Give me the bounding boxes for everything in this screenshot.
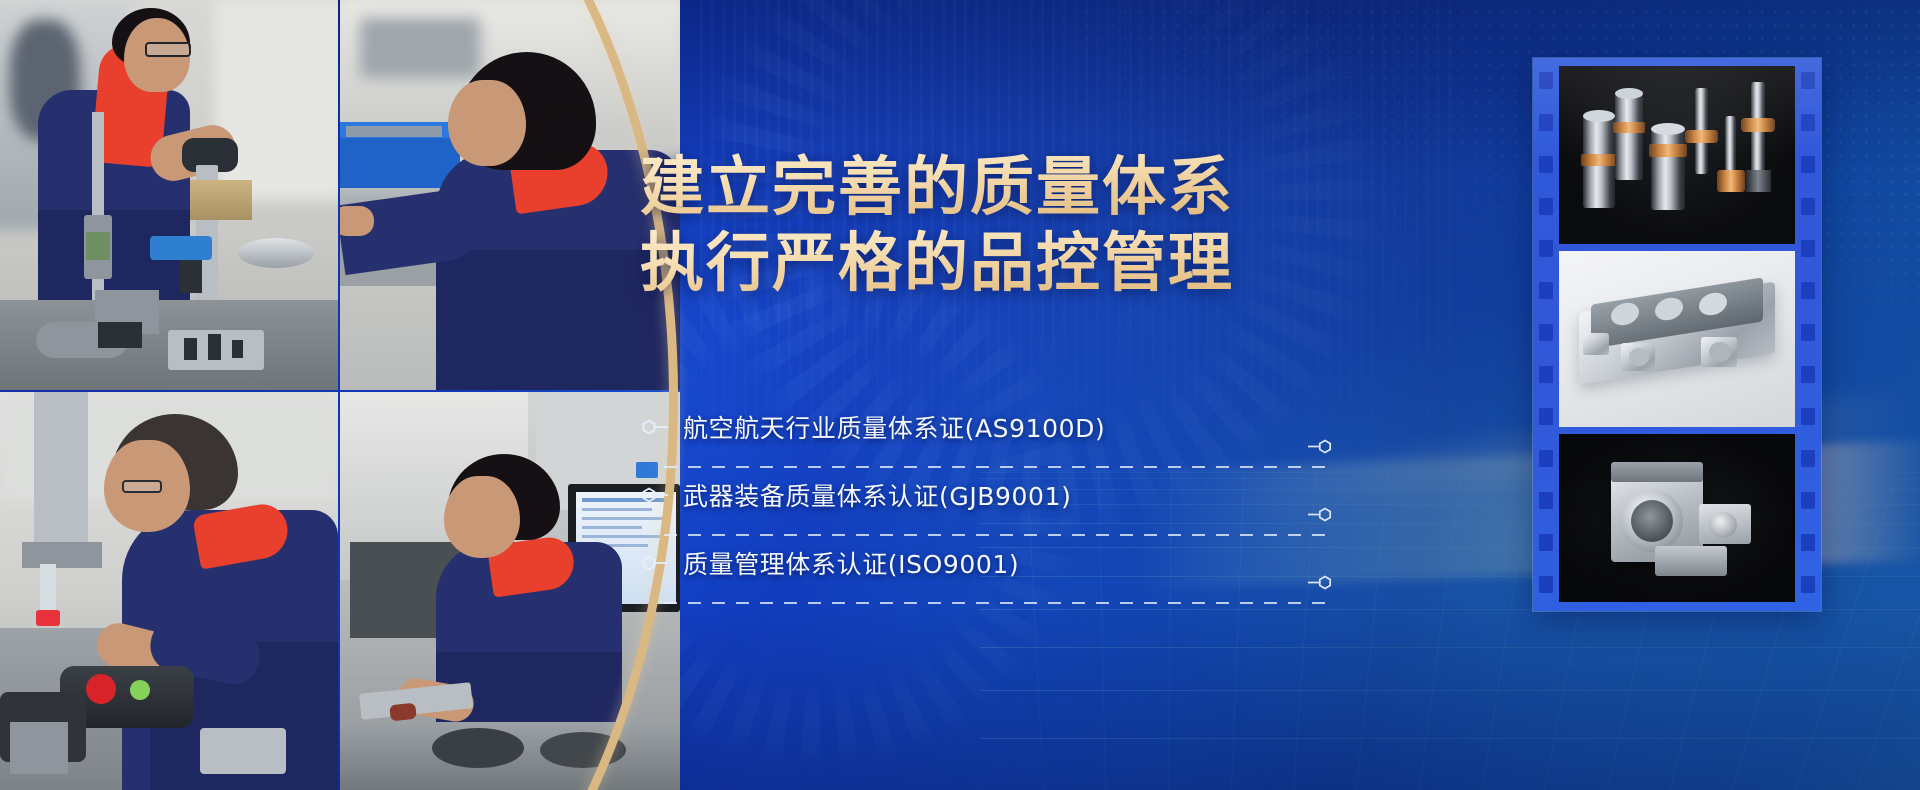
photo-height-gauge-inspection <box>0 0 338 390</box>
certification-item: 质量管理体系认证(ISO9001) <box>642 536 1202 604</box>
headline-line-1: 建立完善的质量体系 <box>640 152 1260 224</box>
filmstrip-perforation <box>1801 282 1815 299</box>
filmstrip-perforation <box>1539 408 1553 425</box>
filmstrip-perforation <box>1801 534 1815 551</box>
certification-label: 质量管理体系认证(ISO9001) <box>683 545 1019 581</box>
filmstrip-perforation <box>1539 156 1553 173</box>
filmstrip-perforation <box>1801 114 1815 131</box>
filmstrip-perforation <box>1539 450 1553 467</box>
photo-collage <box>0 0 680 790</box>
certification-divider <box>664 602 1327 604</box>
gallery-image-machined-housing <box>1559 251 1795 427</box>
quality-system-banner: 建立完善的质量体系 执行严格的品控管理 航空航天行业质量体系证(AS9100D) <box>0 0 1920 790</box>
hexagon-end-icon <box>1308 507 1334 522</box>
hexagon-end-icon <box>1308 439 1334 454</box>
filmstrip-perforation <box>1539 366 1553 383</box>
photo-cmm-measuring <box>0 392 338 790</box>
filmstrip-perforation <box>1801 324 1815 341</box>
filmstrip-perforation <box>1539 114 1553 131</box>
hexagon-end-icon <box>1308 575 1334 590</box>
filmstrip-perforation <box>1539 198 1553 215</box>
filmstrip-perforation <box>1801 156 1815 173</box>
certification-list: 航空航天行业质量体系证(AS9100D) 武器装备质量体系认证(GJB9001) <box>642 400 1202 604</box>
filmstrip-perforation <box>1539 240 1553 257</box>
hexagon-bullet-icon <box>642 419 670 435</box>
filmstrip-perforation <box>1539 534 1553 551</box>
filmstrip-perforation <box>1539 72 1553 89</box>
filmstrip-perforation <box>1539 324 1553 341</box>
filmstrip-perforation <box>1539 282 1553 299</box>
gallery-image-precision-shafts-bushings <box>1559 66 1795 244</box>
filmstrip-perforation <box>1801 72 1815 89</box>
photo-bench-inspection <box>340 0 680 390</box>
filmstrip-perforation <box>1801 450 1815 467</box>
headline-line-2: 执行严格的品控管理 <box>640 228 1260 300</box>
photo-machine-operation <box>340 392 680 790</box>
headline-block: 建立完善的质量体系 执行严格的品控管理 <box>640 152 1260 301</box>
filmstrip-perforation <box>1801 366 1815 383</box>
filmstrip-perforation <box>1801 492 1815 509</box>
certification-item: 航空航天行业质量体系证(AS9100D) <box>642 400 1202 468</box>
filmstrip-perforation <box>1801 240 1815 257</box>
certification-label: 武器装备质量体系认证(GJB9001) <box>683 477 1071 513</box>
filmstrip-perforation <box>1539 492 1553 509</box>
filmstrip-perforation <box>1801 198 1815 215</box>
product-gallery-filmstrip <box>1533 58 1821 611</box>
filmstrip-perforations-right <box>1795 58 1821 611</box>
filmstrip-perforation <box>1801 408 1815 425</box>
filmstrip-perforation <box>1801 576 1815 593</box>
gallery-image-bearing-block <box>1559 434 1795 602</box>
hexagon-bullet-icon <box>642 555 670 571</box>
hexagon-bullet-icon <box>642 487 670 503</box>
certification-label: 航空航天行业质量体系证(AS9100D) <box>683 409 1105 445</box>
certification-item: 武器装备质量体系认证(GJB9001) <box>642 468 1202 536</box>
filmstrip-perforation <box>1539 576 1553 593</box>
filmstrip-perforations-left <box>1533 58 1559 611</box>
